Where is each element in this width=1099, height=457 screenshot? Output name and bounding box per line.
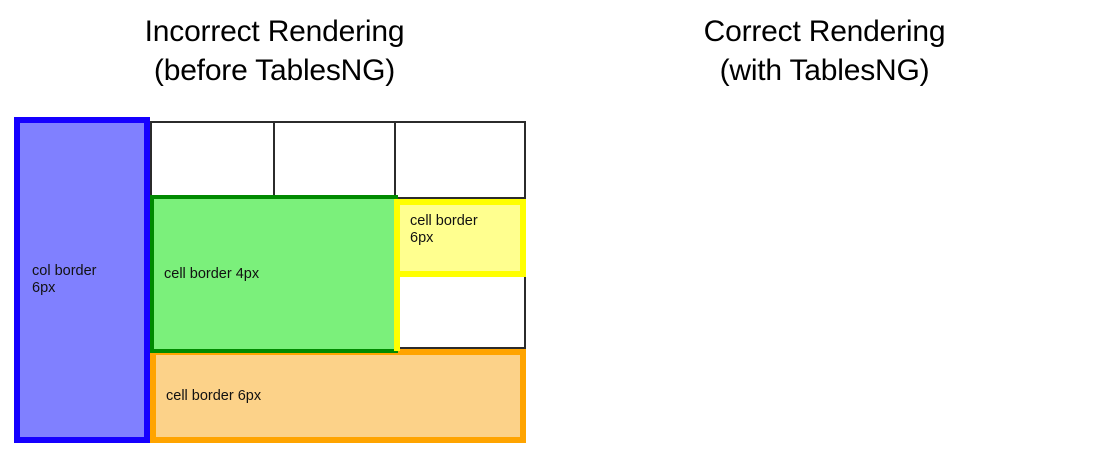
grid-divider-2-incorrect <box>394 121 396 199</box>
panel-title-correct: Correct Rendering (with TablesNG) <box>550 12 1099 90</box>
cell-orange-incorrect: cell border 6px <box>150 349 526 443</box>
cell-green-incorrect: cell border 4px <box>150 195 398 353</box>
grid-divider-1-incorrect <box>273 121 275 199</box>
cell-green-label-incorrect: cell border 4px <box>164 266 259 283</box>
table-incorrect: cell border 6px cell border 4px cell bor… <box>14 117 526 447</box>
grid-header-row-incorrect <box>150 121 526 199</box>
panel-correct-rendering: Correct Rendering (with TablesNG) cell b… <box>550 0 1099 457</box>
cell-yellow-incorrect: cell border 6px <box>394 199 526 277</box>
panel-incorrect-rendering: Incorrect Rendering (before TablesNG) ce… <box>0 0 549 457</box>
cell-orange-label-incorrect: cell border 6px <box>166 388 261 405</box>
panel-title-incorrect: Incorrect Rendering (before TablesNG) <box>0 12 549 90</box>
cell-column-label-incorrect: col border 6px <box>30 263 96 297</box>
cell-column-incorrect: col border 6px <box>14 117 150 443</box>
cell-yellow-label-incorrect: cell border 6px <box>410 213 478 247</box>
